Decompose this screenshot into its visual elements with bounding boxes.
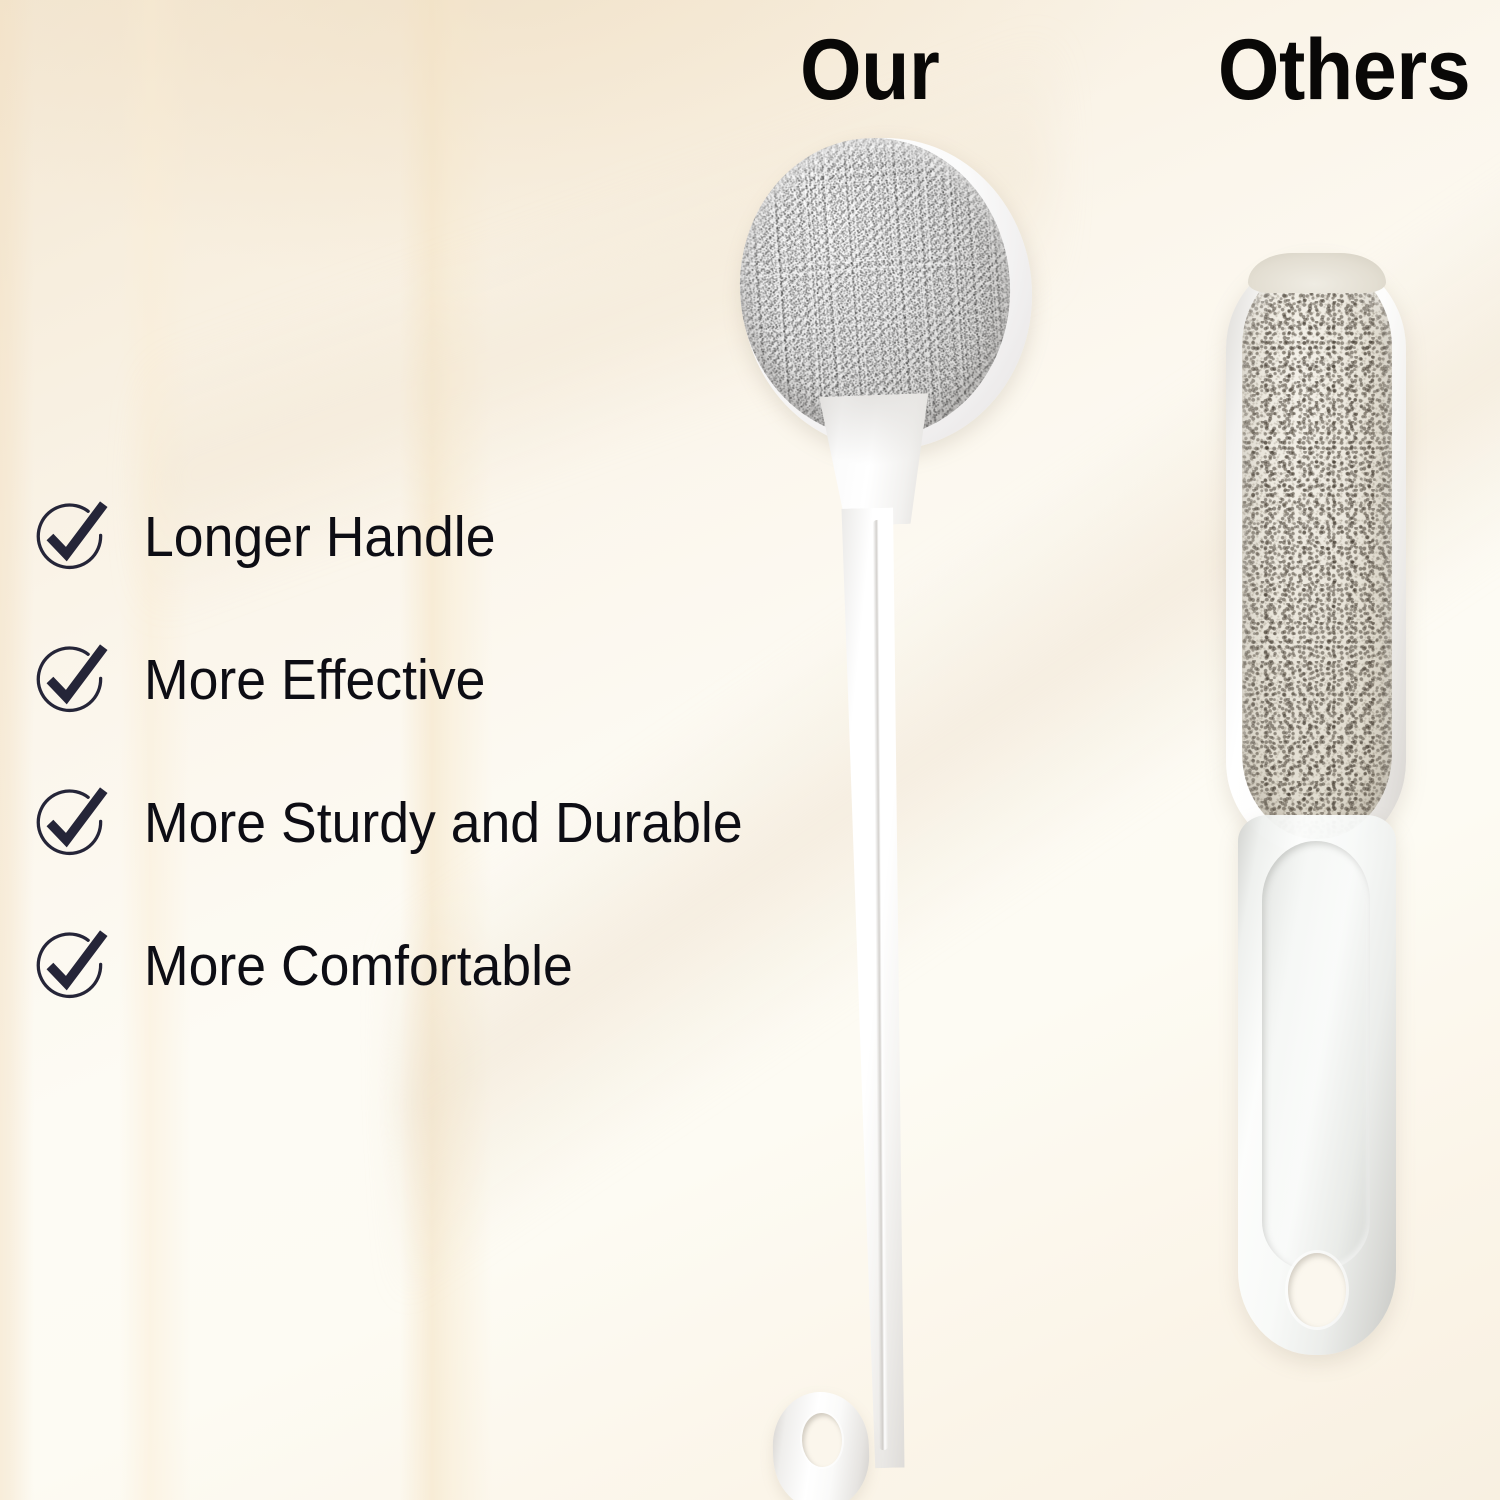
feature-label: More Comfortable <box>144 933 573 999</box>
feature-item: More Effective <box>32 641 772 784</box>
feature-list: Longer Handle More Effective More Sturdy… <box>32 498 772 1070</box>
others-pumice-texture <box>1242 261 1392 839</box>
check-circle-icon <box>32 927 110 1005</box>
others-pumice-top-cap <box>1248 253 1386 293</box>
product-ours <box>690 120 1070 1500</box>
feature-item: More Comfortable <box>32 927 772 1070</box>
product-comparison-image: Our Others Longer Handle More Effective <box>0 0 1500 1500</box>
feature-item: More Sturdy and Durable <box>32 784 772 927</box>
feature-label: More Sturdy and Durable <box>144 790 743 856</box>
product-others <box>1200 245 1460 1425</box>
feature-label: Longer Handle <box>144 504 496 570</box>
heading-others: Others <box>1218 27 1470 113</box>
check-circle-icon <box>32 784 110 862</box>
check-circle-icon <box>32 498 110 576</box>
feature-label: More Effective <box>144 647 485 713</box>
others-handle-grip <box>1262 841 1370 1271</box>
feature-item: Longer Handle <box>32 498 772 641</box>
ours-handle-neck <box>812 393 940 527</box>
check-circle-icon <box>32 641 110 719</box>
others-hanging-hole <box>1288 1253 1346 1327</box>
heading-our: Our <box>800 27 939 113</box>
